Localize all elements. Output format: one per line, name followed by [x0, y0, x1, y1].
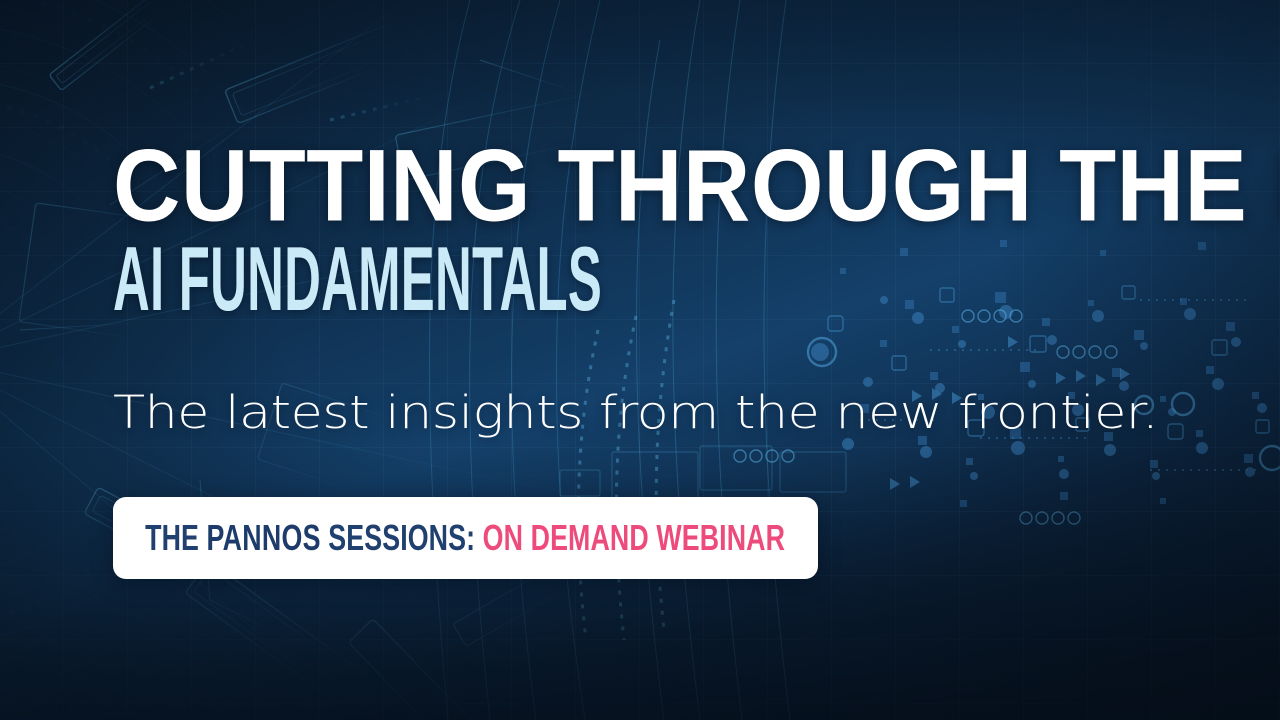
badge-middle: SESSIONS: — [321, 517, 483, 558]
webinar-badge[interactable]: THE PANNOS SESSIONS: ON DEMAND WEBINAR — [113, 497, 818, 579]
subtitle-text: The latest insights from the new frontie… — [113, 386, 1158, 439]
title-slide: CUTTING THROUGH THE HYPE: AI FUNDAMENTAL… — [0, 0, 1280, 720]
badge-highlight: ON DEMAND WEBINAR — [483, 517, 785, 558]
headline-line-2: AI FUNDAMENTALS — [113, 238, 758, 322]
slide-content: CUTTING THROUGH THE HYPE: AI FUNDAMENTAL… — [113, 0, 1213, 720]
badge-prefix: THE — [146, 517, 207, 558]
webinar-badge-text: THE PANNOS SESSIONS: ON DEMAND WEBINAR — [146, 520, 786, 556]
headline-block: CUTTING THROUGH THE HYPE: AI FUNDAMENTAL… — [113, 140, 1203, 317]
headline-line-1: CUTTING THROUGH THE HYPE: — [113, 140, 1173, 234]
badge-brand: PANNOS — [207, 517, 321, 558]
